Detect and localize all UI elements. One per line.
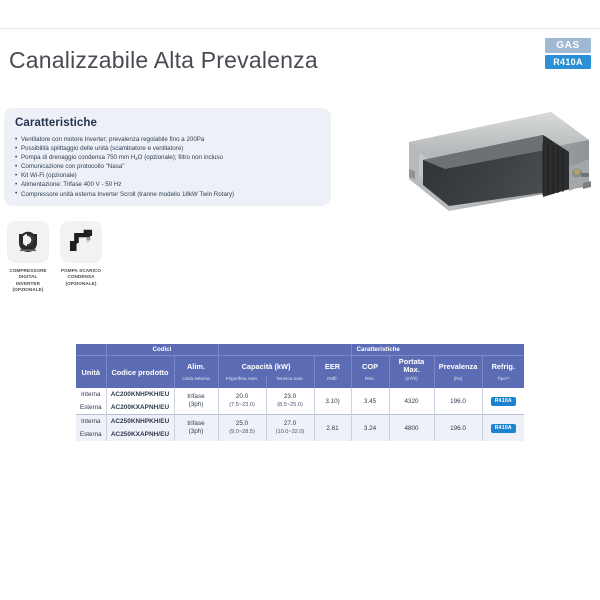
cell-unita: Interna <box>76 415 106 429</box>
subheader-refrig: Tipo¹⁰ <box>482 376 524 388</box>
cell-portata-max: 4800 <box>389 415 434 442</box>
cell-capacita-frigorifera-value: 20.0 <box>219 393 266 402</box>
page-title: Canalizzabile Alta Prevalenza <box>9 47 318 74</box>
header-refrig: Refrig. <box>482 356 524 377</box>
cell-codice-prodotto: AC200KNHPKH/EU <box>106 388 174 401</box>
subheader-alim: Unità esterna <box>174 376 218 388</box>
header-group-caratteristiche: Caratteristiche <box>351 344 524 356</box>
table-row: Interna AC250KNHPKH/EU trifase (3ph) 25.… <box>76 415 524 429</box>
features-panel: Caratteristiche Ventilatore con motore I… <box>4 108 331 206</box>
cell-prevalenza: 196.0 <box>434 388 482 415</box>
feature-item: Kit Wi-Fi (opzionale) <box>15 171 319 180</box>
header-portata-max: Portata Max. <box>389 356 434 377</box>
subheader-eer: Raffr. <box>314 376 351 388</box>
subheader-termica: Termica nom. <box>266 376 314 388</box>
gas-badge-refrigerant: R410A <box>545 55 591 69</box>
cell-alim-phase: (3ph) <box>175 401 218 410</box>
feature-item: Compressore unità esterna Inverter Scrol… <box>15 190 319 199</box>
cell-alim: trifase (3ph) <box>174 415 218 442</box>
table-row: Interna AC200KNHPKH/EU trifase (3ph) 20.… <box>76 388 524 401</box>
refrigerant-badge: R410A <box>491 424 516 433</box>
header-divider <box>0 28 600 29</box>
header-cop: COP <box>351 356 389 377</box>
icon-item-compressor: COMPRESSORE DIGITAL INVERTER (OPZIONALE) <box>6 221 50 294</box>
specifications-table: Codici Caratteristiche Unità Codice prod… <box>76 344 524 441</box>
cell-codice-prodotto: AC200KXAPNH/EU <box>106 401 174 415</box>
cell-codice-prodotto: AC250KNHPKH/EU <box>106 415 174 429</box>
product-image <box>393 107 593 214</box>
cell-alim: trifase (3ph) <box>174 388 218 415</box>
features-list: Ventilatore con motore Inverter; prevale… <box>15 135 319 199</box>
gas-badge: GAS R410A <box>545 38 591 69</box>
header-codice-prodotto: Codice prodotto <box>106 356 174 389</box>
feature-item: Possibilità splittaggio delle unità (sca… <box>15 144 319 153</box>
cell-cop: 3.45 <box>351 388 389 415</box>
cell-capacita-termica: 23.0 (8.5~25.0) <box>266 388 314 415</box>
subheader-frigorifera: Frigorifera nom. <box>218 376 266 388</box>
cell-eer: 2.61 <box>314 415 351 442</box>
feature-icons: COMPRESSORE DIGITAL INVERTER (OPZIONALE)… <box>6 221 103 294</box>
cell-alim-value: trifase <box>175 393 218 402</box>
icon-item-drain-pump: POMPA SCARICO CONDENSA (OPZIONALE) <box>59 221 103 294</box>
cell-refrig: R410A <box>482 415 524 442</box>
table-body: Interna AC200KNHPKH/EU trifase (3ph) 20.… <box>76 388 524 441</box>
refrigerant-badge: R410A <box>491 397 516 406</box>
feature-item: Comunicazione con protocollo "Nasa" <box>15 162 319 171</box>
features-title: Caratteristiche <box>15 117 319 129</box>
cell-capacita-frigorifera: 20.0 (7.5~23.0) <box>218 388 266 415</box>
header-group-codici: Codici <box>106 344 218 356</box>
cell-eer: 3.10) <box>314 388 351 415</box>
digital-inverter-compressor-icon <box>15 229 41 255</box>
cell-capacita-frigorifera-value: 25.0 <box>219 420 266 429</box>
cell-portata-max: 4320 <box>389 388 434 415</box>
cell-capacita-frigorifera-range: (7.5~23.0) <box>219 401 266 409</box>
cell-capacita-termica-range: (8.5~25.0) <box>267 401 314 409</box>
header-blank <box>218 344 351 356</box>
icon-tile <box>60 221 102 263</box>
cell-prevalenza: 196.0 <box>434 415 482 442</box>
gas-badge-label: GAS <box>545 38 591 53</box>
cell-capacita-termica-value: 23.0 <box>267 393 314 402</box>
header-prevalenza: Prevalenza <box>434 356 482 377</box>
cell-refrig: R410A <box>482 388 524 415</box>
subheader-portata: (m³/h) <box>389 376 434 388</box>
header-eer: EER <box>314 356 351 377</box>
cell-unita: Interna <box>76 388 106 401</box>
icon-tile <box>7 221 49 263</box>
icon-caption: COMPRESSORE DIGITAL INVERTER (OPZIONALE) <box>6 268 50 294</box>
cell-capacita-termica-range: (10.0~32.0) <box>267 428 314 436</box>
subheader-prevalenza: (Pa) <box>434 376 482 388</box>
cell-alim-phase: (3ph) <box>175 428 218 437</box>
table-header: Codici Caratteristiche Unità Codice prod… <box>76 344 524 388</box>
table-header-main-row: Unità Codice prodotto Alim. Capacità (kW… <box>76 356 524 377</box>
cell-alim-value: trifase <box>175 420 218 429</box>
header-capacita: Capacità (kW) <box>218 356 314 377</box>
header-blank <box>76 344 106 356</box>
feature-item: Ventilatore con motore Inverter; prevale… <box>15 135 319 144</box>
icon-caption: POMPA SCARICO CONDENSA (OPZIONALE) <box>61 268 101 287</box>
header-unita: Unità <box>76 356 106 389</box>
cell-unita: Esterna <box>76 401 106 415</box>
cell-capacita-frigorifera-range: (9.0~28.5) <box>219 428 266 436</box>
cell-unita: Esterna <box>76 428 106 441</box>
cell-capacita-termica-value: 27.0 <box>267 420 314 429</box>
condensate-drain-pump-icon <box>68 229 94 255</box>
feature-item: Alimentazione: Trifase 400 V - 50 Hz <box>15 180 319 189</box>
subheader-cop: Risc. <box>351 376 389 388</box>
cell-capacita-frigorifera: 25.0 (9.0~28.5) <box>218 415 266 442</box>
cell-codice-prodotto: AC250KXAPNH/EU <box>106 428 174 441</box>
cell-cop: 3.24 <box>351 415 389 442</box>
feature-item: Pompa di drenaggio condensa 750 mm H2O (… <box>15 153 319 162</box>
table-header-group-row: Codici Caratteristiche <box>76 344 524 356</box>
cell-capacita-termica: 27.0 (10.0~32.0) <box>266 415 314 442</box>
header-alim: Alim. <box>174 356 218 377</box>
